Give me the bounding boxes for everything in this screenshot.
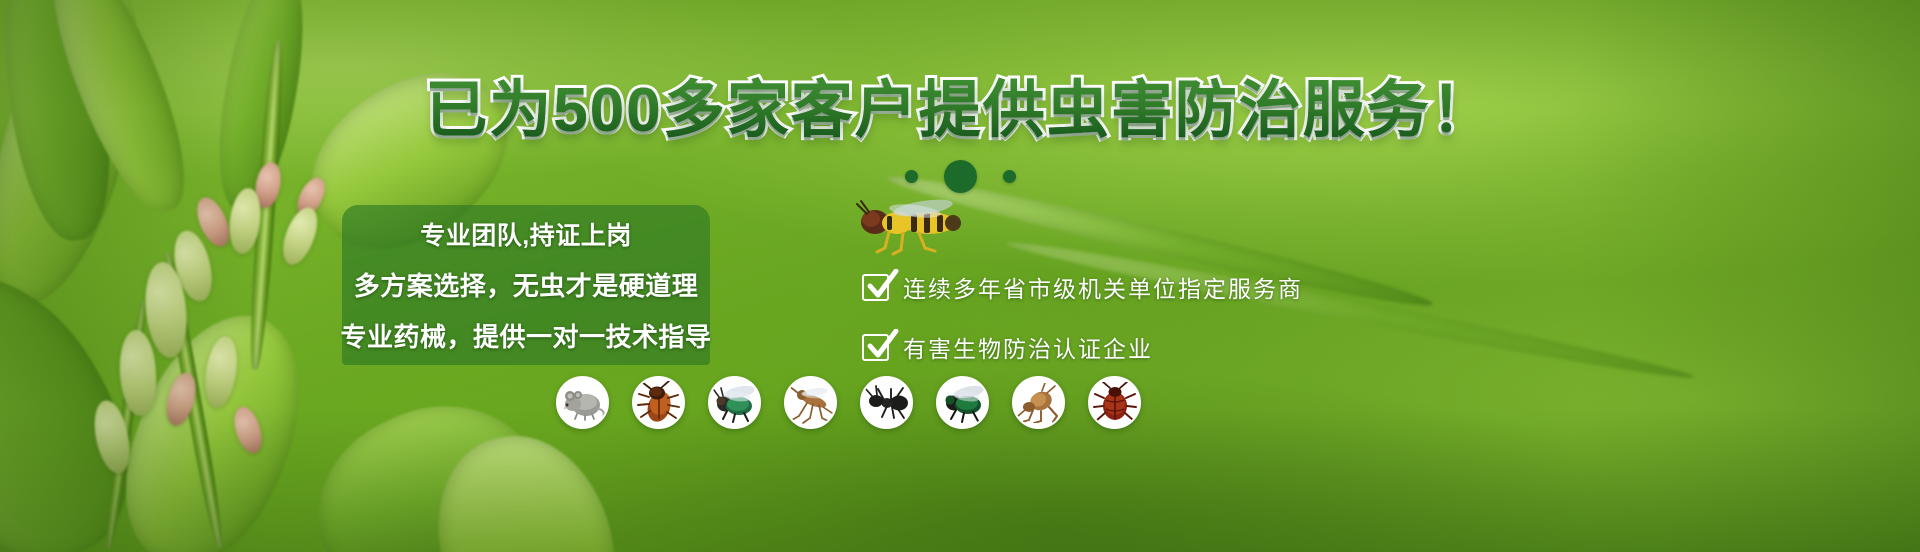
- dot-small-left: [905, 170, 918, 183]
- flea-icon[interactable]: [1012, 376, 1065, 429]
- slogan-line-2: 多方案选择，无虫才是硬道理: [354, 266, 699, 303]
- checklist-item-2: 有害生物防治认证企业: [862, 330, 1422, 364]
- greenbottle-fly-icon[interactable]: [936, 376, 989, 429]
- checklist-item-1-label: 连续多年省市级机关单位指定服务商: [903, 270, 1303, 304]
- banner-headline-outline: 已为500多家客户提供虫害防治服务！: [0, 76, 1920, 146]
- mouse-icon[interactable]: [556, 376, 609, 429]
- ant-icon[interactable]: [860, 376, 913, 429]
- check-box-icon: [862, 334, 889, 361]
- pest-control-hero-banner: 已为500多家客户提供虫害防治服务！ 已为500多家客户提供虫害防治服务！ 专业…: [0, 0, 1920, 552]
- mosquito-icon[interactable]: [784, 376, 837, 429]
- certification-checklist: 连续多年省市级机关单位指定服务商 有害生物防治认证企业: [862, 270, 1422, 390]
- bedbug-icon[interactable]: [1088, 376, 1141, 429]
- slogan-line-1: 专业团队,持证上岗: [420, 216, 631, 252]
- slogan-line-3: 专业药械，提供一对一技术指导: [341, 317, 712, 354]
- hoverfly-illustration: [845, 196, 965, 258]
- checklist-item-1: 连续多年省市级机关单位指定服务商: [862, 270, 1422, 304]
- dot-large-center: [944, 160, 977, 193]
- housefly-icon[interactable]: [708, 376, 761, 429]
- cockroach-icon[interactable]: [632, 376, 685, 429]
- checklist-item-2-label: 有害生物防治认证企业: [903, 330, 1153, 364]
- headline-divider-dots: [0, 160, 1920, 193]
- slogan-list: 专业团队,持证上岗 多方案选择，无虫才是硬道理 专业药械，提供一对一技术指导: [342, 205, 710, 365]
- pest-icon-row: [556, 376, 1141, 429]
- dot-small-right: [1003, 170, 1016, 183]
- check-box-icon: [862, 274, 889, 301]
